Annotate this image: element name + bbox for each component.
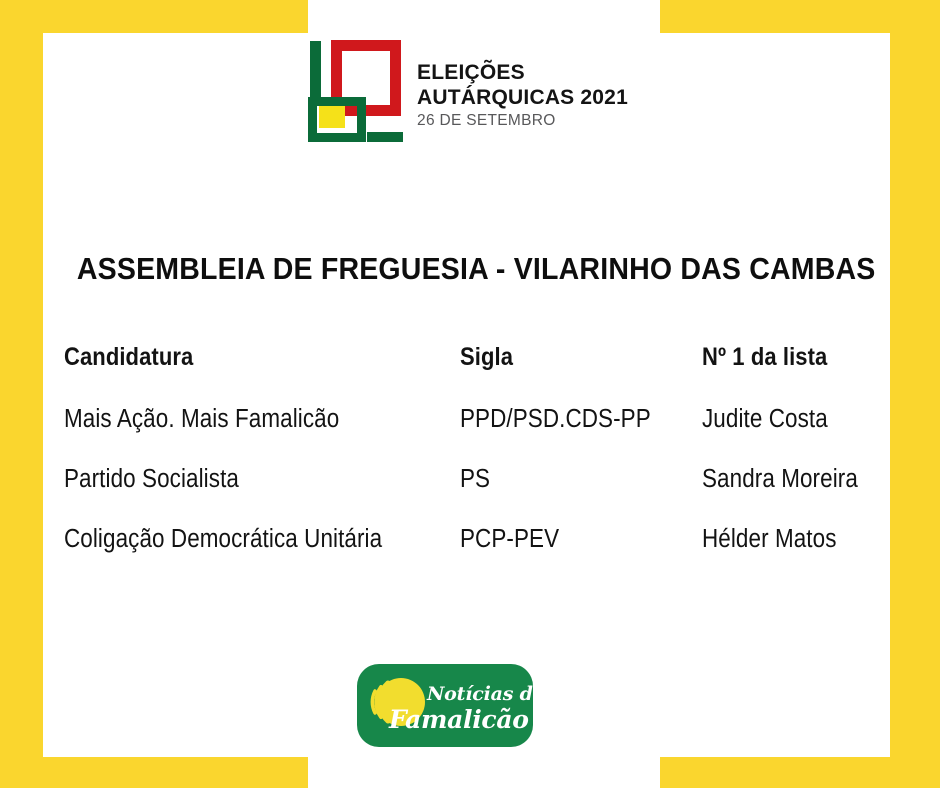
- candidates-table: Candidatura Sigla Nº 1 da lista Mais Açã…: [64, 343, 890, 585]
- official-logo-header: ELEIÇÕES AUTÁRQUICAS 2021 26 DE SETEMBRO: [43, 33, 890, 178]
- logo-line-eleicoes: ELEIÇÕES: [417, 60, 628, 85]
- eleicoes-autarquicas-mark-icon: [305, 38, 403, 148]
- brand-line-noticias-de: Notícias de: [427, 683, 533, 705]
- content-card: ELEIÇÕES AUTÁRQUICAS 2021 26 DE SETEMBRO…: [43, 33, 890, 757]
- page-title: ASSEMBLEIA DE FREGUESIA - VILARINHO DAS …: [77, 251, 856, 287]
- cell-sigla: PPD/PSD.CDS-PP: [460, 405, 651, 434]
- cell-sigla: PS: [460, 465, 490, 494]
- column-header-candidatura: Candidatura: [64, 343, 193, 372]
- brand-line-famalicao: Famalicão: [389, 705, 529, 734]
- table-row: Mais Ação. Mais Famalicão PPD/PSD.CDS-PP…: [64, 405, 890, 465]
- logo-line-autarquicas: AUTÁRQUICAS 2021: [417, 85, 628, 110]
- table-header-row: Candidatura Sigla Nº 1 da lista: [64, 343, 890, 405]
- official-logo-wordmark: ELEIÇÕES AUTÁRQUICAS 2021 26 DE SETEMBRO: [417, 38, 628, 131]
- poster-root: ELEIÇÕES AUTÁRQUICAS 2021 26 DE SETEMBRO…: [0, 0, 940, 788]
- brand-wordmark: Notícias de Famalicão: [357, 664, 533, 747]
- column-header-sigla: Sigla: [460, 343, 513, 372]
- cell-candidatura: Mais Ação. Mais Famalicão: [64, 405, 339, 434]
- cell-sigla: PCP-PEV: [460, 525, 559, 554]
- logo-line-date: 26 DE SETEMBRO: [417, 110, 628, 131]
- cell-numero-1: Judite Costa: [702, 405, 828, 434]
- column-header-numero-1-da-lista: Nº 1 da lista: [702, 343, 827, 372]
- cell-candidatura: Partido Socialista: [64, 465, 239, 494]
- logo-green-horizontal-bar: [367, 132, 403, 142]
- table-row: Partido Socialista PS Sandra Moreira: [64, 465, 890, 525]
- table-row: Coligação Democrática Unitária PCP-PEV H…: [64, 525, 890, 585]
- logo-yellow-square: [319, 106, 345, 128]
- cell-numero-1: Sandra Moreira: [702, 465, 858, 494]
- logo-green-vertical-bar: [310, 41, 321, 101]
- cell-candidatura: Coligação Democrática Unitária: [64, 525, 382, 554]
- cell-numero-1: Hélder Matos: [702, 525, 837, 554]
- noticias-de-famalicao-logo: Notícias de Famalicão: [357, 664, 533, 747]
- official-logo: ELEIÇÕES AUTÁRQUICAS 2021 26 DE SETEMBRO: [305, 38, 628, 148]
